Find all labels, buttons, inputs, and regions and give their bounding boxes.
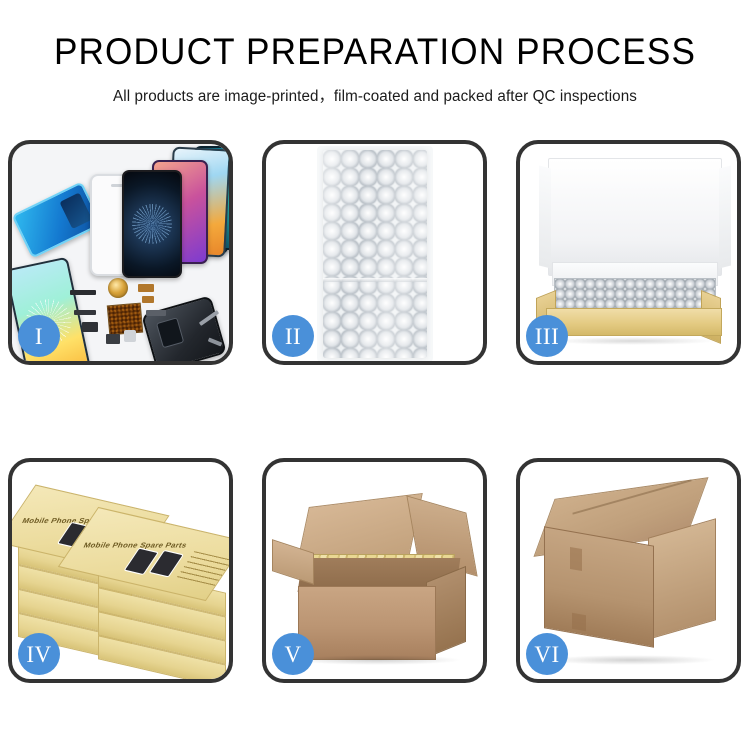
carton-tape-upper <box>570 547 582 571</box>
carton-drop-shadow <box>292 655 462 665</box>
box-label-front: Mobile Phone Spare Parts <box>82 542 188 549</box>
copper-coil-part <box>108 278 128 298</box>
step-badge-3: III <box>526 315 568 357</box>
process-step-card-5: V <box>262 458 487 683</box>
phone-rear-housing <box>141 295 227 361</box>
process-step-card-6: VI <box>516 458 741 683</box>
box-drop-shadow <box>550 337 716 345</box>
small-chip-part-a <box>138 284 154 292</box>
process-step-grid: I II III <box>8 140 742 683</box>
page-subtitle: All products are image-printed，film-coat… <box>8 84 743 106</box>
process-step-card-1: I <box>8 140 233 365</box>
sealed-carton-shadow <box>546 655 716 665</box>
process-step-card-2: II <box>262 140 487 365</box>
button-part <box>82 322 98 332</box>
box-spec-lines-front <box>177 551 229 586</box>
sim-tray-part <box>124 330 136 342</box>
camera-module-part <box>106 334 120 344</box>
flex-cable-part <box>70 290 96 295</box>
box-lid-open <box>548 158 722 276</box>
ribbon-cable-part <box>74 310 96 315</box>
step-badge-5: V <box>272 633 314 675</box>
process-step-card-3: III <box>516 140 741 365</box>
process-step-card-4: Mobile Phone Spare Parts Mobile Phone Sp… <box>8 458 233 683</box>
phone-dark-display <box>122 170 182 278</box>
bubble-wrap-sleeve <box>323 150 427 358</box>
step-badge-6: VI <box>526 633 568 675</box>
step-badge-4: IV <box>18 633 60 675</box>
bubble-wrapped-contents <box>554 278 716 312</box>
carton-front-panel <box>298 586 436 660</box>
phone-adhesive-frame <box>12 181 103 258</box>
small-chip-part-b <box>142 296 154 303</box>
page-title: PRODUCT PREPARATION PROCESS <box>19 30 732 74</box>
plastic-sheen <box>323 150 427 358</box>
antenna-part <box>146 310 166 316</box>
carton-front-panel-sealed <box>544 526 654 647</box>
screen-burst-pattern <box>132 204 172 244</box>
box-front-panel <box>546 308 722 336</box>
carton-right-panel <box>648 518 716 639</box>
step-badge-2: II <box>272 315 314 357</box>
carton-tape-lower <box>572 613 586 631</box>
page-header: PRODUCT PREPARATION PROCESS All products… <box>0 0 750 106</box>
step-badge-1: I <box>18 315 60 357</box>
